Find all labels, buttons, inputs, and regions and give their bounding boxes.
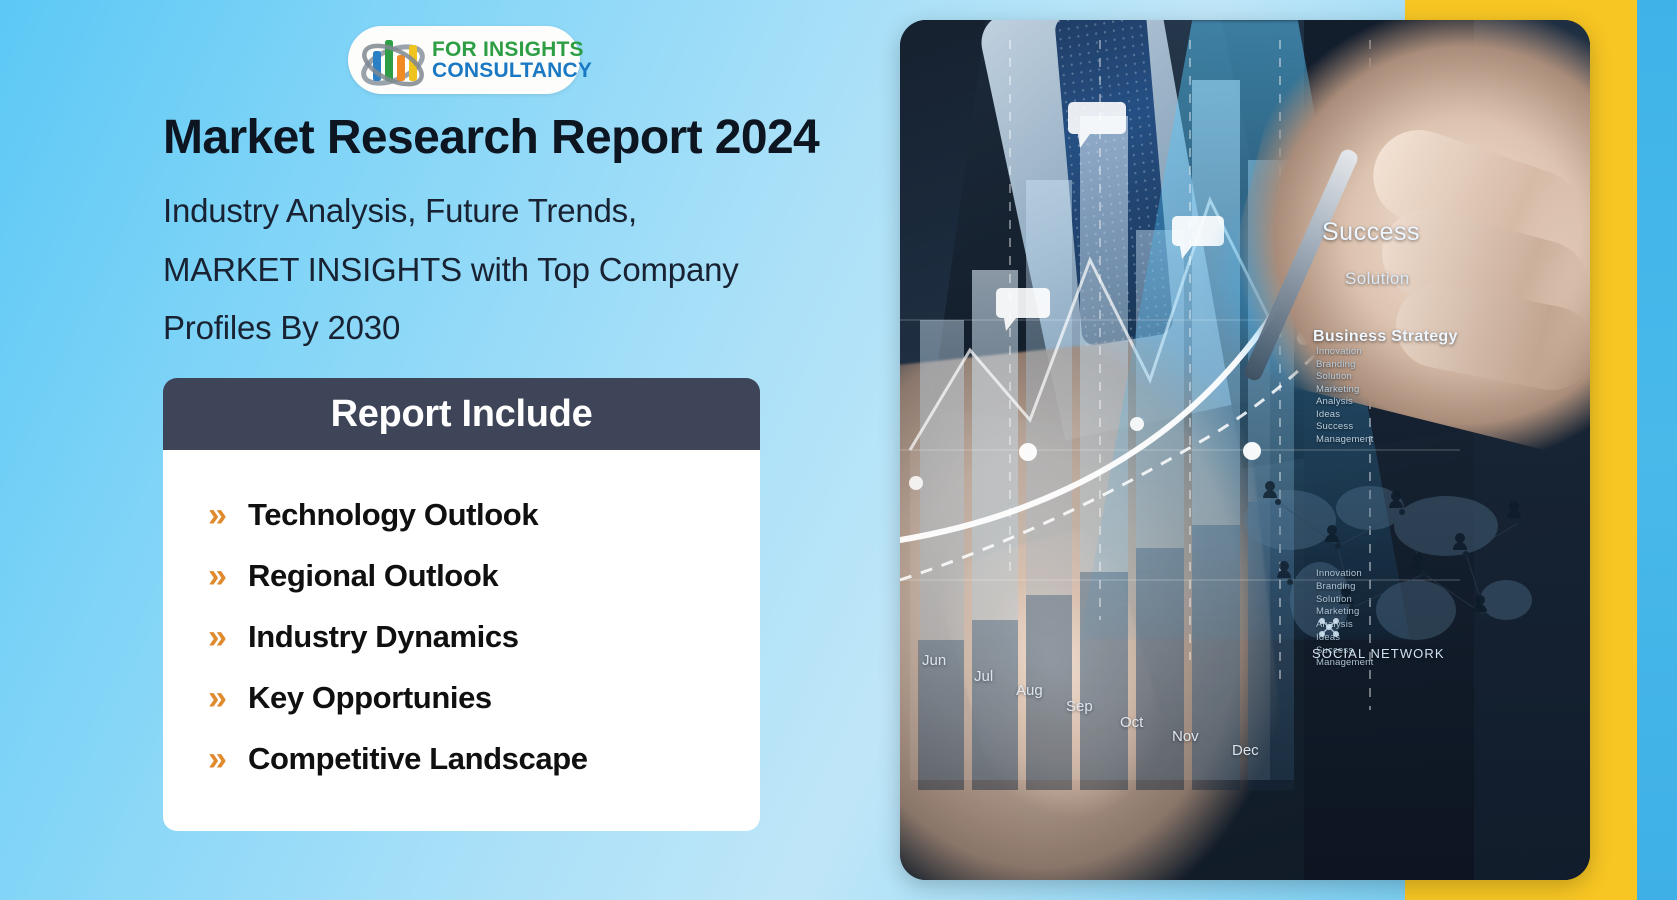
- report-include-card: Report Include » Technology Outlook » Re…: [163, 378, 760, 831]
- brand-logo: FOR INSIGHTS CONSULTANCY: [348, 26, 580, 94]
- double-chevron-right-icon: »: [208, 620, 248, 654]
- subtitle-line-2: MARKET INSIGHTS with Top Company: [163, 241, 903, 300]
- left-content-column: FOR INSIGHTS CONSULTANCY Market Research…: [0, 0, 900, 900]
- list-item-label: Technology Outlook: [248, 497, 538, 533]
- list-item-label: Key Opportunies: [248, 680, 492, 716]
- brand-logo-line-2: CONSULTANCY: [432, 60, 592, 81]
- report-include-list: » Technology Outlook » Regional Outlook …: [163, 484, 760, 789]
- list-item: » Regional Outlook: [208, 545, 760, 606]
- list-item: » Competitive Landscape: [208, 728, 760, 789]
- page-subtitle: Industry Analysis, Future Trends, MARKET…: [163, 182, 903, 358]
- month-label: Jun: [922, 652, 946, 669]
- subtitle-line-1: Industry Analysis, Future Trends,: [163, 182, 903, 241]
- double-chevron-right-icon: »: [208, 681, 248, 715]
- month-label: Aug: [1016, 682, 1043, 699]
- hero-photo: Success Solution Business Strategy Innov…: [900, 20, 1590, 880]
- double-chevron-right-icon: »: [208, 742, 248, 776]
- report-include-body: » Technology Outlook » Regional Outlook …: [163, 450, 760, 831]
- list-item-label: Competitive Landscape: [248, 741, 588, 777]
- report-include-title: Report Include: [331, 393, 593, 436]
- right-blue-edge: [1637, 0, 1677, 900]
- list-item-label: Regional Outlook: [248, 558, 498, 594]
- photo-month-axis: Jun Jul Aug Sep Oct Nov Dec: [900, 20, 1590, 880]
- list-item: » Technology Outlook: [208, 484, 760, 545]
- report-include-header: Report Include: [163, 378, 760, 450]
- subtitle-line-3: Profiles By 2030: [163, 299, 903, 358]
- month-label: Oct: [1120, 714, 1143, 731]
- brand-logo-line-1: FOR INSIGHTS: [432, 39, 592, 60]
- double-chevron-right-icon: »: [208, 498, 248, 532]
- month-label: Nov: [1172, 728, 1199, 745]
- page-title: Market Research Report 2024: [163, 110, 923, 165]
- month-label: Sep: [1066, 698, 1093, 715]
- list-item: » Key Opportunies: [208, 667, 760, 728]
- list-item: » Industry Dynamics: [208, 606, 760, 667]
- list-item-label: Industry Dynamics: [248, 619, 519, 655]
- brand-logo-wordmark: FOR INSIGHTS CONSULTANCY: [432, 39, 592, 82]
- bar-chart-orbit-logo-icon: [356, 31, 430, 89]
- month-label: Jul: [974, 668, 993, 685]
- market-research-banner: FOR INSIGHTS CONSULTANCY Market Research…: [0, 0, 1677, 900]
- month-label: Dec: [1232, 742, 1259, 759]
- double-chevron-right-icon: »: [208, 559, 248, 593]
